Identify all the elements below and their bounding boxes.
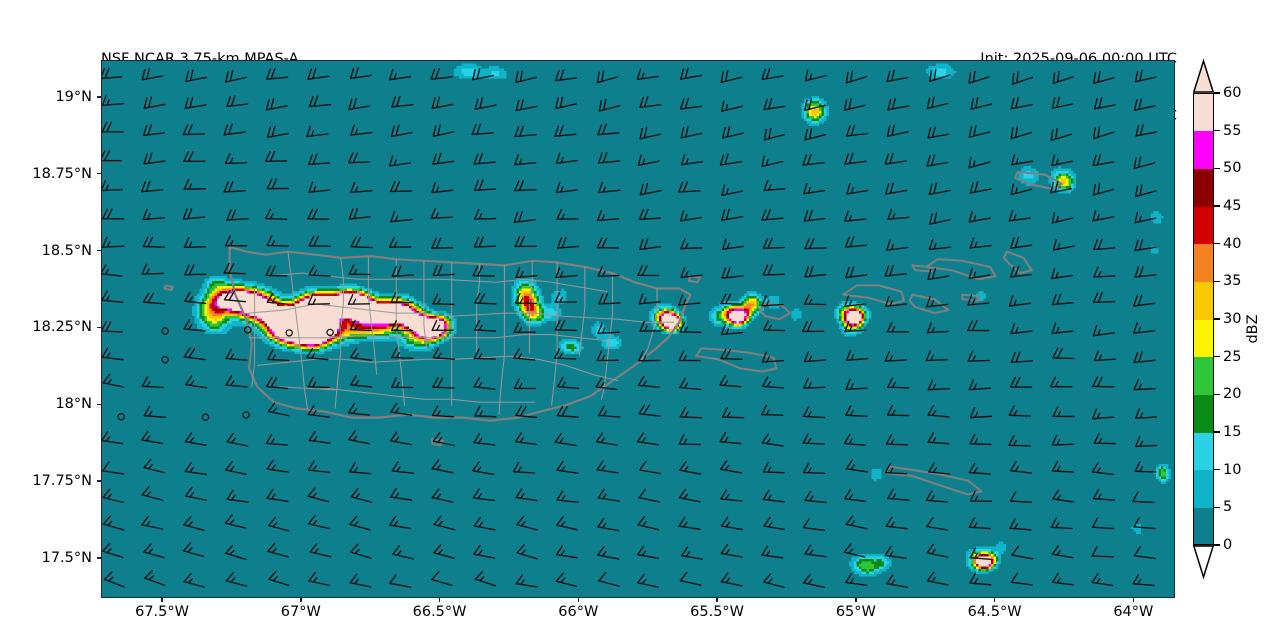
wind-barb-full [560, 321, 565, 330]
wind-barb-shaft [598, 133, 619, 135]
wind-barb-shaft [309, 163, 330, 165]
wind-barb-shaft [763, 274, 784, 275]
colorbar-tick-mark [1214, 469, 1220, 471]
wind-barb-shaft [474, 387, 495, 390]
wind-barb-shaft [557, 161, 578, 164]
wind-barb-shaft [224, 273, 245, 274]
wind-barb-half [1015, 467, 1018, 472]
wind-barb-full [637, 69, 640, 79]
wind-barb-half [107, 494, 111, 498]
wind-barb-full [1053, 573, 1059, 582]
wind-barb-shaft [349, 413, 370, 415]
wind-barb-full [1051, 377, 1056, 387]
wind-barb-full [350, 574, 356, 583]
wind-barb-shaft [970, 558, 991, 560]
wind-barb-shaft [433, 161, 454, 164]
wind-barb-full [190, 98, 193, 108]
wind-barb-full [720, 433, 725, 442]
wind-barb-full [804, 184, 807, 194]
x-tick-mark [716, 598, 717, 602]
wind-barb-shaft [803, 443, 824, 444]
wind-barb-shaft [762, 443, 783, 446]
wind-barb-shaft [885, 360, 906, 361]
wind-barb-full [392, 267, 396, 277]
wind-barb-half [190, 493, 194, 497]
wind-barb-full [517, 517, 524, 525]
wind-barb-full [1140, 267, 1144, 277]
wind-barb-shaft [555, 442, 576, 445]
wind-barb-full [969, 73, 970, 83]
wind-barb-half [521, 494, 524, 499]
wind-barb-full [307, 349, 312, 358]
wind-barb-half [769, 522, 772, 527]
wind-barb-full [309, 461, 315, 470]
wind-barb-full [271, 99, 274, 109]
wind-barb-full [722, 101, 724, 111]
y-tick-label: 18.5°N [42, 243, 92, 259]
wind-barb-full [762, 210, 766, 220]
wind-barb-half [642, 551, 645, 556]
colorbar-bands [1193, 93, 1214, 545]
wind-barb-full [1052, 546, 1058, 555]
wind-barb-shaft [638, 161, 659, 165]
wind-barb-full [473, 462, 479, 471]
wind-barb-full [102, 96, 106, 106]
wind-barb-half [437, 325, 440, 330]
wind-barb-full [390, 238, 394, 248]
wind-barb-shaft [886, 526, 907, 529]
wind-barb-full [479, 237, 483, 247]
wind-barb-full [144, 293, 149, 302]
wind-barb-shaft [351, 497, 371, 502]
wind-barb-shaft [721, 304, 742, 305]
wind-barb-half [394, 521, 397, 526]
x-tick-label: 67°W [281, 604, 321, 620]
wind-barb-full [309, 573, 315, 581]
wind-barb-shaft [1009, 218, 1030, 221]
wind-barb-shaft [349, 106, 370, 109]
wind-barb-half [1057, 440, 1059, 445]
wind-barbs [101, 68, 1157, 588]
wind-barb-shaft [764, 135, 784, 140]
wind-barb-shaft [515, 135, 536, 137]
wind-barb-full [805, 545, 811, 554]
colorbar-tick-label: 25 [1223, 349, 1241, 365]
wind-barb-shaft [142, 386, 163, 387]
wind-barb-shaft [1135, 77, 1156, 82]
wind-barb-shaft [846, 415, 867, 416]
wind-barb-full [148, 125, 151, 135]
wind-barb-shaft [351, 133, 372, 136]
colorbar-tick-mark [1214, 507, 1220, 509]
wind-barb-full [432, 321, 436, 331]
wind-barb-full [308, 406, 314, 415]
wind-barb-full [887, 322, 892, 331]
wind-barb-full [887, 71, 890, 81]
wind-barb-half [1099, 438, 1102, 443]
wind-barb-shaft [351, 191, 372, 193]
wind-barb-full [602, 124, 606, 134]
wind-barb-full [926, 351, 930, 361]
wind-barb-full [844, 544, 851, 552]
wind-barb-full [1098, 239, 1102, 249]
wind-barb-full [970, 492, 975, 501]
wind-barb-shaft [1011, 471, 1032, 473]
wind-barb-half [521, 580, 524, 585]
wind-barb-full [893, 99, 896, 109]
wind-barb-half [975, 553, 978, 558]
wind-barb-shaft [144, 416, 165, 418]
wind-barb-shaft [928, 134, 949, 138]
wind-barb-shaft [1053, 499, 1074, 502]
wind-barb-full [680, 322, 685, 331]
wind-barb-shaft [475, 246, 496, 247]
wind-barb-shaft [307, 358, 328, 360]
wind-barb-shaft [805, 135, 825, 140]
wind-barb-full [723, 408, 728, 417]
wind-barb-full [1052, 155, 1055, 165]
wind-barb-half [933, 468, 936, 473]
wind-barb-half [560, 297, 563, 302]
colorbar-tick-label: 20 [1223, 386, 1241, 402]
wind-barb-half [726, 550, 729, 554]
wind-barb-full [640, 129, 642, 139]
wind-barb-half [190, 438, 193, 442]
wind-barb-half [809, 299, 812, 304]
wind-barb-full [639, 210, 643, 220]
wind-barb-half [931, 496, 934, 501]
wind-barb-full [143, 210, 147, 220]
wind-barb-full [103, 237, 107, 247]
wind-barb-full [391, 182, 395, 192]
wind-barb-shaft [142, 495, 162, 500]
wind-barb-full [225, 291, 230, 300]
wind-barb-full [638, 155, 641, 165]
wind-barb-shaft [309, 105, 330, 107]
wind-barb-half [892, 410, 895, 415]
wind-barb-half [975, 579, 978, 584]
wind-barb-half [808, 468, 811, 473]
wind-barb-shaft [1136, 132, 1157, 136]
wind-barb-half [642, 579, 646, 583]
wind-barb-shaft [640, 247, 661, 250]
wind-barb-shaft [1093, 417, 1114, 419]
wind-barb-half [890, 552, 893, 557]
wind-barb-shaft [804, 583, 825, 588]
wind-barb-shaft [680, 332, 701, 333]
wind-barb-half [850, 579, 853, 584]
wind-barb-shaft [473, 76, 494, 80]
wind-barb-shaft [722, 333, 743, 335]
wind-barb-full [229, 124, 232, 134]
wind-barb-half [521, 550, 525, 554]
wind-barb-shaft [517, 525, 537, 530]
wind-barb-full [640, 98, 643, 108]
wind-barb-shaft [599, 416, 620, 418]
wind-barb-shaft [885, 555, 906, 558]
wind-barb-shaft [226, 385, 247, 387]
wind-barb-half [231, 381, 234, 386]
wind-barb-full [477, 69, 480, 79]
colorbar-band [1193, 131, 1214, 169]
wind-barb-shaft [640, 134, 660, 139]
wind-barb-full [809, 99, 811, 109]
wind-barb-shaft [1013, 77, 1033, 84]
wind-barb-full [1098, 72, 1100, 82]
wind-barb-full [639, 294, 643, 304]
wind-barb-shaft [805, 105, 825, 110]
wind-barb-full [270, 152, 274, 162]
wind-barb-full [726, 71, 728, 81]
wind-barb-full [890, 153, 893, 163]
wind-barb-shaft [971, 104, 991, 109]
wind-barb-half [395, 493, 398, 498]
wind-barb-shaft [309, 470, 330, 472]
wind-barb-half [271, 439, 274, 444]
wind-barb-shaft [803, 163, 824, 165]
wind-barb-full [846, 574, 852, 583]
wind-barb-shaft [103, 246, 124, 247]
wind-barb-shaft [308, 304, 329, 305]
wind-barb-full [185, 265, 189, 275]
wind-barb-half [1057, 551, 1060, 556]
wind-barb-full [349, 431, 355, 440]
wind-barb-full [391, 432, 397, 441]
wind-barb-full [1057, 294, 1061, 304]
wind-barb-full [1139, 99, 1141, 109]
wind-barb-full [271, 378, 276, 387]
wind-barb-shaft [639, 498, 660, 502]
wind-barb-shaft [1135, 218, 1156, 223]
wind-barb-full [355, 68, 358, 78]
wind-barb-half [725, 381, 728, 386]
wind-barb-full [1016, 98, 1019, 108]
colorbar-max-arrow [1193, 60, 1214, 93]
wind-barb-full [351, 237, 356, 246]
wind-barb-shaft [472, 133, 493, 135]
wind-barb-half [1140, 441, 1142, 446]
wind-barb-shaft [185, 442, 206, 446]
x-tick-mark [161, 598, 162, 602]
wind-barb-full [149, 153, 152, 163]
wind-barb-shaft [1052, 303, 1073, 305]
wind-barb-shaft [474, 554, 495, 558]
wind-barb-full [477, 124, 481, 134]
wind-barb-shaft [144, 552, 164, 558]
wind-barb-shaft [555, 358, 576, 359]
y-tick-mark [97, 404, 101, 405]
wind-barb-full [638, 266, 643, 276]
wind-barb-full [810, 266, 814, 276]
wind-barb-full [599, 406, 604, 415]
wind-barb-half [1138, 579, 1141, 584]
wind-barb-half [1014, 411, 1017, 416]
wind-barb-full [516, 268, 520, 278]
wind-barb-shaft [681, 75, 702, 79]
wind-barb-shaft [1009, 445, 1030, 446]
wind-barb-shaft [350, 472, 371, 474]
wind-barb-half [437, 411, 440, 416]
wind-barb-full [1053, 462, 1058, 471]
wind-barb-shaft [309, 275, 330, 276]
colorbar-tick-mark [1214, 92, 1220, 94]
wind-barb-half [273, 577, 277, 581]
wind-barb-shaft [142, 76, 163, 80]
wind-barb-shaft [1135, 471, 1156, 472]
wind-barb-shaft [764, 526, 785, 529]
wind-barb-full [974, 126, 976, 136]
wind-barb-full [144, 460, 151, 468]
wind-barb-shaft [390, 163, 411, 166]
wind-barb-full [890, 266, 893, 276]
wind-barb-half [230, 551, 234, 555]
wind-barb-full [1053, 349, 1058, 358]
wind-barb-full [142, 517, 148, 525]
wind-barb-shaft [1134, 527, 1155, 529]
colorbar-band [1193, 507, 1214, 545]
wind-barb-shaft [433, 415, 454, 416]
calm-wind-symbol [202, 414, 208, 420]
wind-barb-half [230, 467, 234, 471]
wind-barb-shaft [1134, 163, 1154, 169]
wind-barb-half [562, 466, 565, 471]
wind-barb-half [396, 325, 399, 330]
wind-barb-shaft [805, 554, 826, 557]
wind-barb-shaft [557, 500, 578, 502]
wind-barb-shaft [888, 217, 909, 219]
wind-barb-full [142, 182, 146, 192]
wind-barb-full [927, 544, 933, 552]
wind-barb-half [601, 383, 604, 388]
wind-barb-shaft [596, 387, 617, 390]
wind-barb-half [767, 439, 770, 444]
wind-barb-full [1098, 293, 1102, 303]
wind-barb-shaft [1094, 302, 1115, 303]
wind-barb-full [645, 97, 648, 107]
wind-barb-full [309, 236, 314, 246]
wind-barb-full [227, 97, 230, 107]
wind-barb-full [640, 461, 646, 470]
wind-barb-full [976, 98, 978, 108]
wind-barb-full [1009, 211, 1012, 221]
wind-barb-full [186, 488, 192, 496]
wind-barb-half [892, 383, 895, 388]
wind-barb-full [847, 351, 851, 361]
wind-barb-half [479, 214, 481, 219]
wind-barb-half [686, 243, 688, 248]
wind-barb-half [562, 382, 565, 387]
map-plot-area[interactable] [101, 60, 1175, 598]
wind-barb-shaft [885, 161, 906, 164]
wind-barb-shaft [266, 443, 287, 445]
wind-barb-shaft [721, 553, 742, 557]
wind-barb-full [1133, 575, 1138, 584]
wind-barb-full [309, 97, 313, 107]
wind-barb-half [188, 548, 192, 552]
wind-barb-full [226, 349, 231, 358]
wind-barb-shaft [722, 217, 743, 221]
wind-barb-shaft [557, 525, 578, 530]
wind-barb-shaft [930, 220, 951, 225]
wind-barb-full [845, 154, 848, 164]
wind-barb-shaft [847, 359, 868, 361]
colorbar-tick-label: 60 [1223, 85, 1241, 101]
wind-barb-shaft [888, 132, 909, 137]
wind-barb-shaft [680, 470, 701, 474]
wind-barb-full [101, 151, 105, 160]
wind-barb-shaft [1052, 218, 1072, 223]
wind-barb-shaft [1134, 331, 1155, 333]
wind-barb-shaft [351, 552, 371, 558]
wind-barb-shaft [142, 525, 163, 529]
wind-barb-full [516, 575, 522, 584]
wind-barb-full [520, 71, 522, 81]
colorbar-tick-label: 10 [1223, 462, 1241, 478]
wind-barb-shaft [762, 361, 783, 363]
wind-barb-full [762, 352, 766, 362]
wind-barb-full [473, 266, 478, 275]
wind-barb-shaft [721, 469, 742, 473]
wind-barb-full [183, 125, 187, 135]
wind-barb-full [763, 265, 767, 275]
wind-barb-full [436, 238, 440, 248]
wind-barb-full [640, 185, 643, 195]
wind-barb-half [355, 381, 358, 386]
wind-barb-half [562, 214, 565, 219]
wind-barb-full [266, 152, 270, 162]
wind-barb-full [1052, 269, 1055, 279]
wind-barb-shaft [804, 191, 825, 194]
wind-barb-half [891, 522, 894, 527]
wind-barb-half [313, 299, 315, 304]
wind-barb-full [845, 100, 847, 110]
wind-barb-full [1011, 462, 1017, 471]
wind-barb-full [521, 99, 524, 109]
wind-barb-full [1092, 574, 1098, 583]
wind-barb-half [313, 521, 317, 525]
wind-barb-full [1094, 267, 1098, 277]
wind-barb-full [680, 379, 685, 388]
wind-barb-full [599, 573, 606, 581]
wind-barb-full [267, 460, 273, 469]
wind-barb-full [1135, 462, 1140, 471]
colorbar-tick-label: 5 [1223, 499, 1232, 515]
colorbar-tick-mark [1214, 205, 1220, 207]
wind-barb-half [810, 550, 813, 555]
wind-barb-full [885, 547, 891, 556]
wind-barb-full [309, 266, 314, 275]
wind-barb-full [431, 69, 434, 79]
wind-barb-full [433, 349, 438, 358]
wind-barb-half [396, 382, 399, 387]
wind-barb-full [762, 69, 765, 79]
wind-barb-half [395, 408, 398, 413]
wind-barb-full [1015, 378, 1020, 387]
wind-barb-half [642, 438, 645, 443]
wind-barb-shaft [103, 383, 124, 387]
wind-barb-half [1055, 382, 1058, 387]
wind-barb-shaft [599, 106, 619, 111]
wind-barb-half [520, 298, 523, 303]
wind-barb-shaft [681, 106, 702, 109]
wind-barb-full [727, 127, 729, 137]
wind-barb-shaft [473, 471, 494, 475]
wind-barb-full [271, 69, 275, 79]
wind-barb-full [103, 462, 109, 471]
wind-barb-full [226, 72, 228, 82]
wind-barb-full [432, 239, 436, 249]
wind-barb-full [557, 517, 564, 525]
